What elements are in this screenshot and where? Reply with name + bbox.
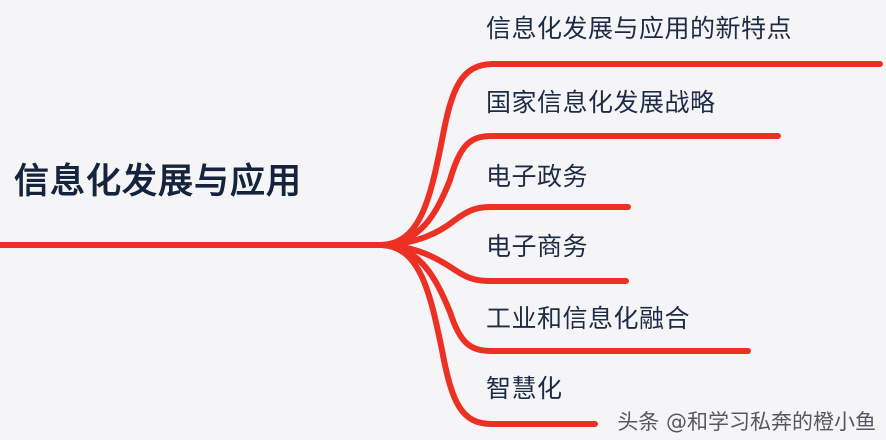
- branch-label-1[interactable]: 信息化发展与应用的新特点: [486, 12, 792, 46]
- branch-label-2[interactable]: 国家信息化发展战略: [486, 86, 716, 120]
- watermark-text: 头条 @和学习私奔的橙小鱼: [617, 406, 876, 436]
- branch-label-6[interactable]: 智慧化: [486, 372, 563, 406]
- mindmap-canvas: 信息化发展与应用 信息化发展与应用的新特点 国家信息化发展战略 电子政务 电子商…: [0, 0, 886, 440]
- branch-label-3[interactable]: 电子政务: [486, 160, 588, 194]
- root-node-label[interactable]: 信息化发展与应用: [14, 160, 302, 204]
- branch-label-4[interactable]: 电子商务: [486, 230, 588, 264]
- branch-label-5[interactable]: 工业和信息化融合: [486, 302, 690, 336]
- connector-layer: [0, 0, 886, 440]
